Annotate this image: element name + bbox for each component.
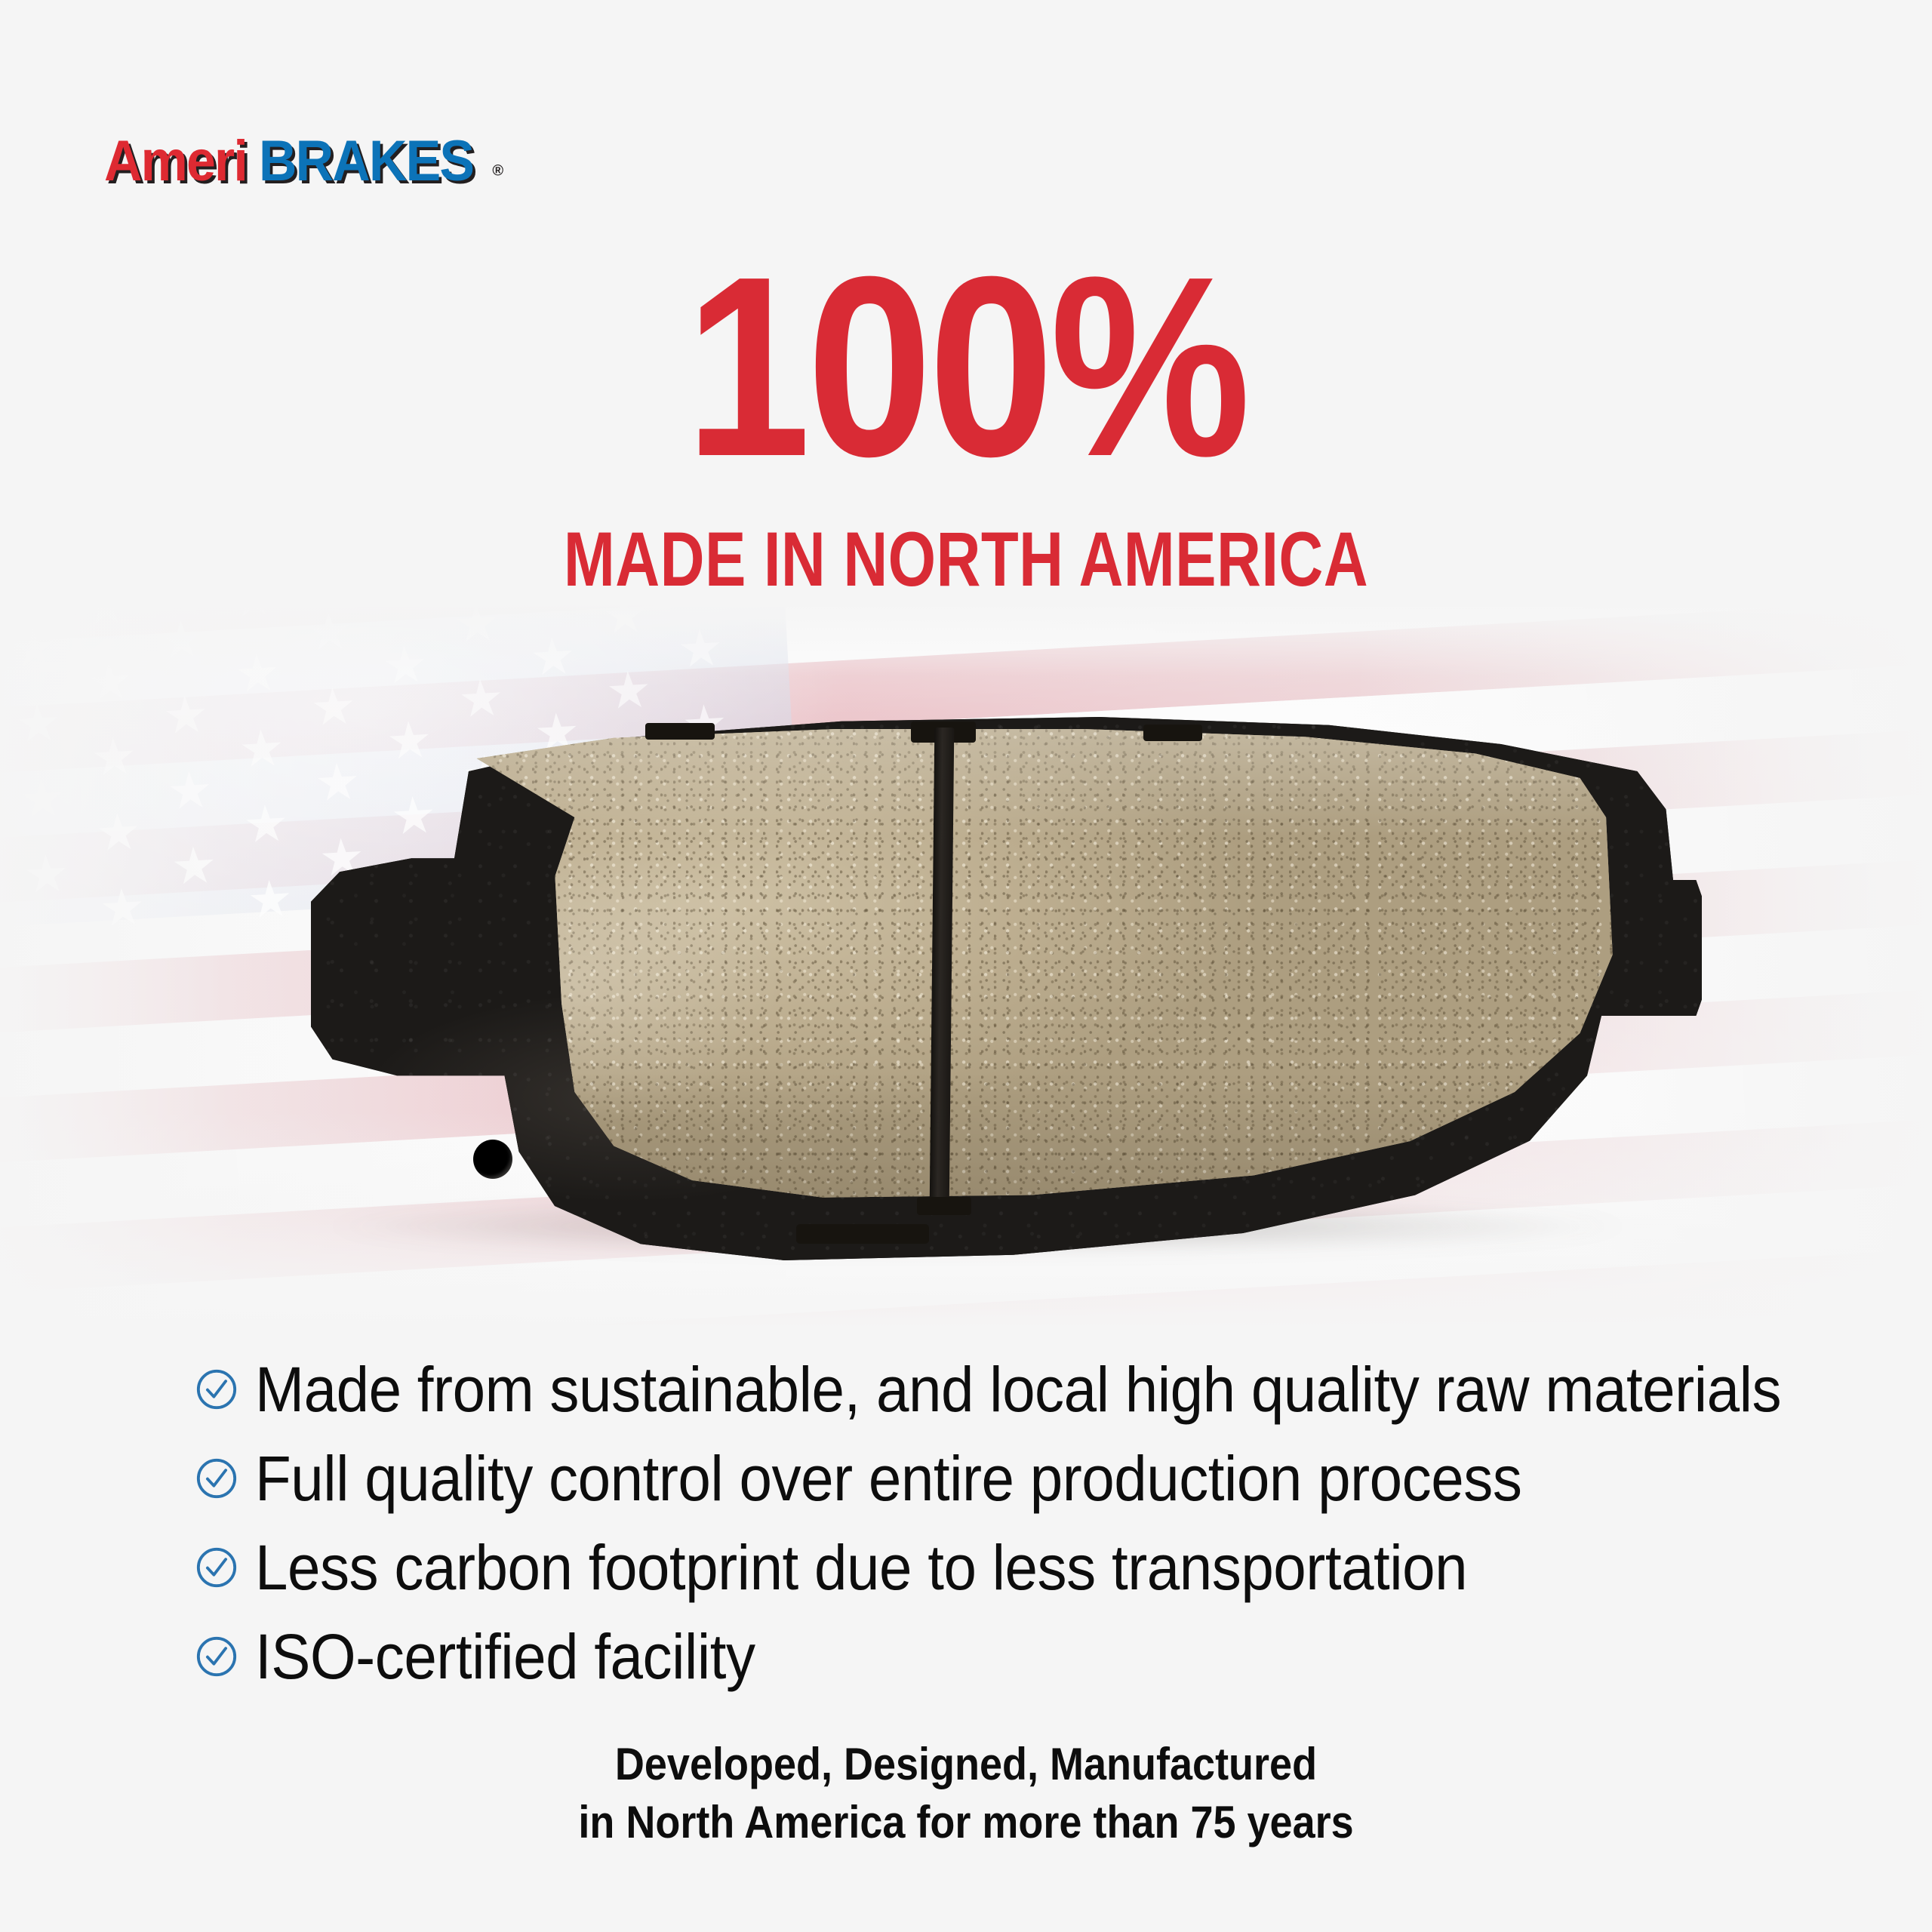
product-marketing-banner: AmeriBRAKES® 100% MADE IN NORTH AMERICA … bbox=[0, 0, 1932, 1932]
flag-star-icon bbox=[168, 770, 211, 813]
flag-star-icon bbox=[380, 604, 423, 612]
mounting-hole bbox=[473, 1140, 512, 1179]
benefit-label: ISO-certified facility bbox=[255, 1625, 755, 1688]
plate-tab-right bbox=[1143, 724, 1202, 741]
flag-star-icon bbox=[308, 611, 351, 654]
plate-tab-left bbox=[645, 723, 715, 740]
center-slot-bottom-cap bbox=[917, 1197, 971, 1215]
brake-pad-image bbox=[268, 717, 1702, 1291]
benefit-label: Less carbon footprint due to less transp… bbox=[255, 1536, 1467, 1599]
flag-star-icon bbox=[88, 661, 131, 704]
flag-star-icon bbox=[455, 604, 498, 645]
benefit-item: Made from sustainable, and local high qu… bbox=[195, 1345, 1780, 1434]
benefit-label: Made from sustainable, and local high qu… bbox=[255, 1358, 1781, 1421]
registered-trademark-icon: ® bbox=[492, 163, 503, 180]
flag-star-icon bbox=[608, 669, 651, 712]
benefits-list: Made from sustainable, and local high qu… bbox=[195, 1345, 1780, 1701]
flag-star-icon bbox=[97, 812, 140, 855]
flag-star-icon bbox=[84, 604, 127, 629]
check-circle-icon bbox=[195, 1635, 238, 1678]
flag-star-icon bbox=[173, 845, 216, 888]
flag-star-icon bbox=[603, 604, 646, 638]
benefit-item: ISO-certified facility bbox=[195, 1612, 1780, 1701]
flag-star-icon bbox=[21, 778, 64, 821]
benefit-item: Less carbon footprint due to less transp… bbox=[195, 1523, 1780, 1612]
page-subtitle: MADE IN NORTH AMERICA bbox=[193, 521, 1739, 598]
flag-star-icon bbox=[12, 627, 55, 670]
flag-star-icon bbox=[165, 694, 208, 737]
plate-tab-bottom bbox=[796, 1224, 929, 1244]
flag-star-icon bbox=[93, 737, 136, 780]
footer-text: Developed, Designed, Manufactured in Nor… bbox=[0, 1736, 1932, 1852]
logo-ameri-text: Ameri bbox=[104, 133, 247, 190]
footer-line-2: in North America for more than 75 years bbox=[97, 1794, 1835, 1852]
flag-stripe bbox=[0, 604, 1932, 648]
flag-star-icon bbox=[101, 887, 144, 930]
flag-star-icon bbox=[17, 703, 60, 746]
flag-star-icon bbox=[236, 653, 279, 696]
page-title: 100% bbox=[116, 249, 1817, 485]
flag-star-icon bbox=[531, 636, 574, 679]
flag-star-icon bbox=[383, 645, 426, 688]
benefit-item: Full quality control over entire product… bbox=[195, 1434, 1780, 1523]
logo-brakes-text: BRAKES bbox=[259, 133, 473, 190]
flag-star-icon bbox=[679, 628, 722, 671]
flag-star-icon bbox=[25, 854, 68, 897]
flag-star-icon bbox=[460, 678, 503, 721]
flag-stripe bbox=[0, 604, 1932, 713]
benefit-label: Full quality control over entire product… bbox=[255, 1447, 1521, 1510]
brand-logo: AmeriBRAKES® bbox=[104, 133, 503, 190]
check-circle-icon bbox=[195, 1367, 238, 1411]
check-circle-icon bbox=[195, 1546, 238, 1589]
flag-star-icon bbox=[232, 604, 275, 620]
footer-line-1: Developed, Designed, Manufactured bbox=[97, 1736, 1835, 1794]
check-circle-icon bbox=[195, 1457, 238, 1500]
flag-star-icon bbox=[160, 619, 203, 662]
